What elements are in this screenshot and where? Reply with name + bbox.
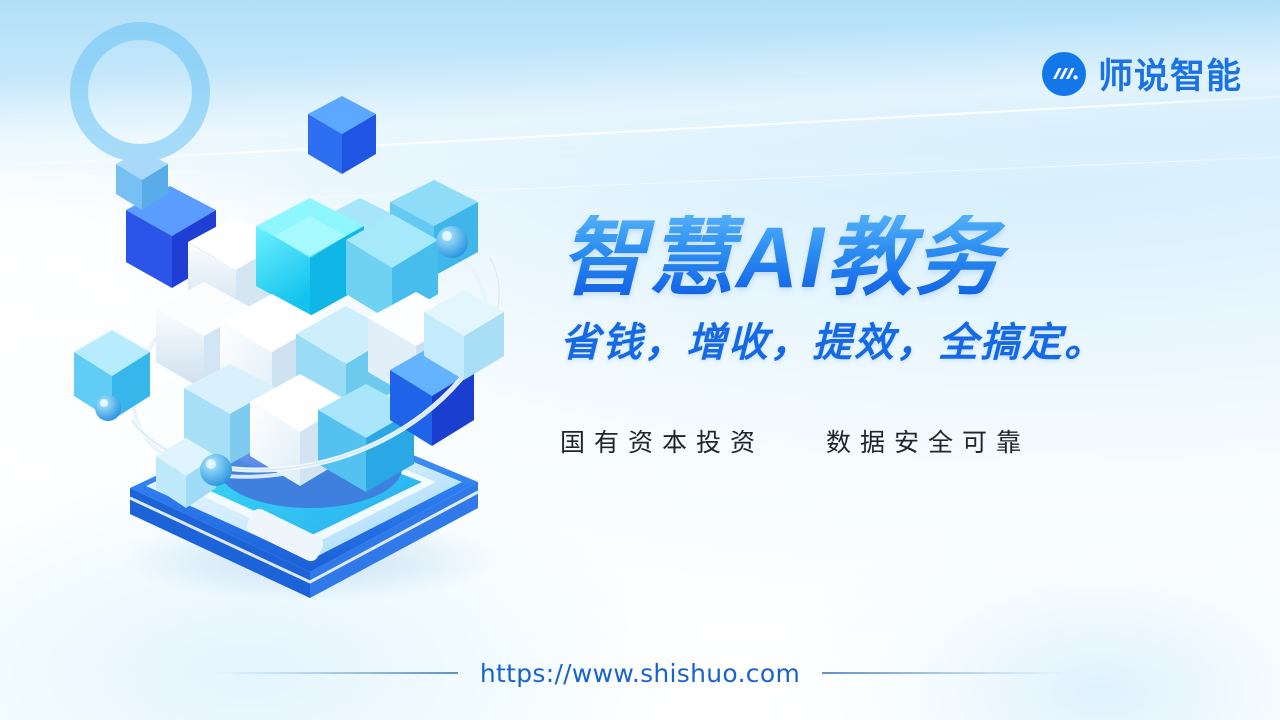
tagline-item-1: 国有资本投资	[560, 423, 764, 459]
tagline-item-2: 数据安全可靠	[826, 423, 1030, 459]
footer-rule-left	[213, 672, 458, 674]
poster-canvas: 师说智能	[0, 0, 1280, 720]
hero-subheadline: 省钱，增收，提效，全搞定。	[560, 323, 1240, 363]
shishuo-monogram-icon	[1042, 52, 1086, 96]
footer: https://www.shishuo.com	[0, 652, 1280, 694]
website-url[interactable]: https://www.shishuo.com	[480, 659, 800, 688]
page-title: 智慧AI教务	[560, 215, 1240, 301]
hero-illustration	[60, 90, 530, 600]
brand-name: 师说智能	[1098, 48, 1242, 99]
footer-rule-right	[822, 672, 1067, 674]
hero-taglines: 国有资本投资 数据安全可靠	[560, 423, 1240, 459]
hero-copy: 智慧AI教务 省钱，增收，提效，全搞定。 国有资本投资 数据安全可靠	[560, 215, 1240, 459]
brand-logo: 师说智能	[1042, 48, 1242, 99]
